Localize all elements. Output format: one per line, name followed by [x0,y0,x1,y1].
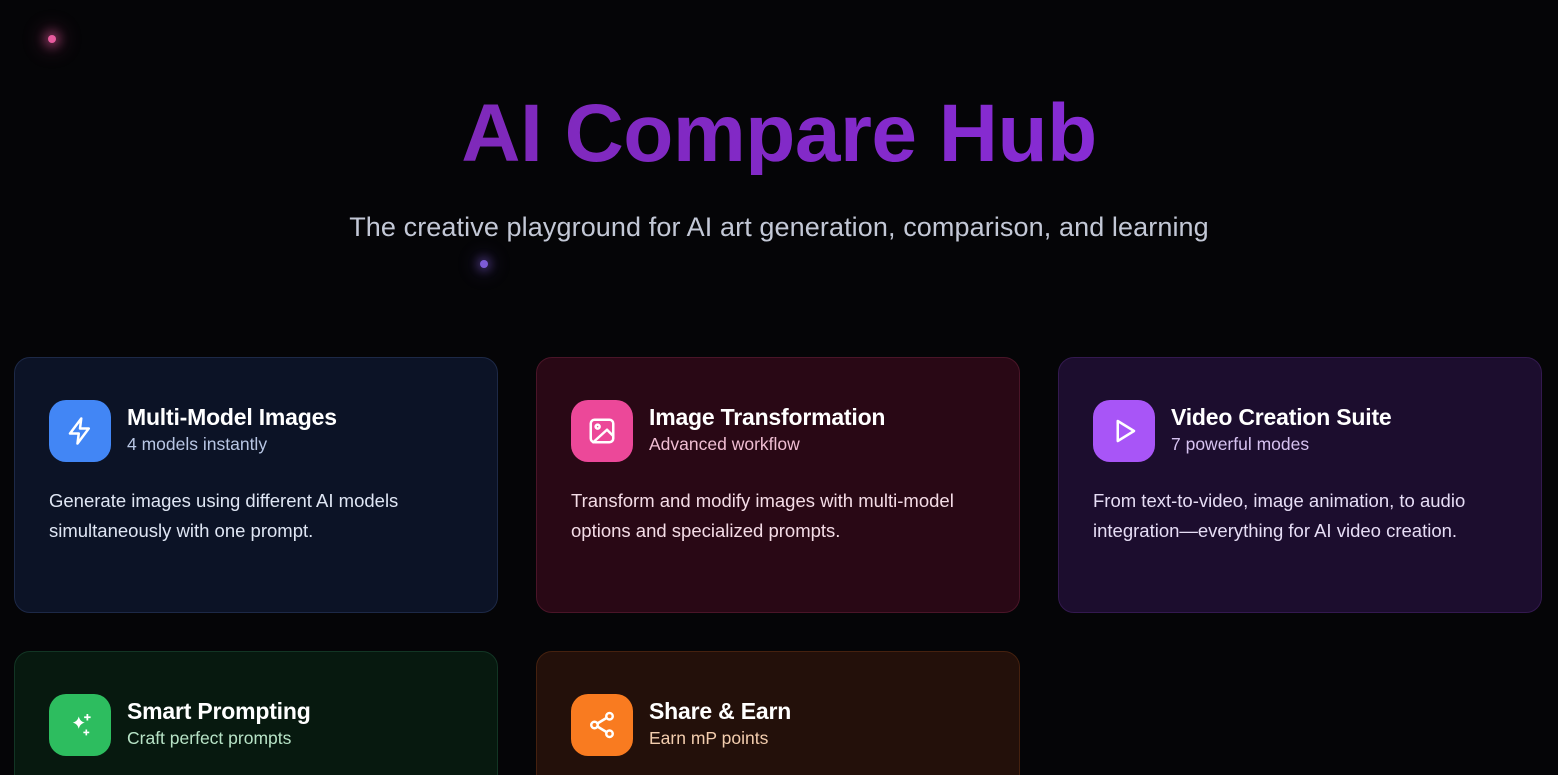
card-header-text: Share & Earn Earn mP points [649,699,791,751]
hero-section: AI Compare Hub The creative playground f… [0,0,1558,243]
card-subtitle: 7 powerful modes [1171,434,1392,455]
decorative-dot-purple [480,260,488,268]
feature-card-video-creation-suite[interactable]: Video Creation Suite 7 powerful modes Fr… [1058,357,1542,613]
feature-card-share-and-earn[interactable]: Share & Earn Earn mP points [536,651,1020,775]
card-description: Transform and modify images with multi-m… [571,486,985,546]
card-title: Smart Prompting [127,699,311,725]
feature-card-multi-model-images[interactable]: Multi-Model Images 4 models instantly Ge… [14,357,498,613]
card-header: Share & Earn Earn mP points [571,694,985,756]
card-title: Multi-Model Images [127,405,337,431]
share-network-icon [571,694,633,756]
page-subtitle: The creative playground for AI art gener… [0,212,1558,243]
card-header-text: Smart Prompting Craft perfect prompts [127,699,311,751]
card-subtitle: Craft perfect prompts [127,728,311,749]
card-title: Image Transformation [649,405,885,431]
card-subtitle: 4 models instantly [127,434,337,455]
card-header: Multi-Model Images 4 models instantly [49,400,463,462]
page-title: AI Compare Hub [0,93,1558,175]
card-title: Share & Earn [649,699,791,725]
card-header: Video Creation Suite 7 powerful modes [1093,400,1507,462]
card-header-text: Multi-Model Images 4 models instantly [127,405,337,457]
page-root: AI Compare Hub The creative playground f… [0,0,1558,775]
card-header: Smart Prompting Craft perfect prompts [49,694,463,756]
card-subtitle: Earn mP points [649,728,791,749]
lightning-bolt-icon [49,400,111,462]
image-icon [571,400,633,462]
card-header-text: Video Creation Suite 7 powerful modes [1171,405,1392,457]
play-triangle-icon [1093,400,1155,462]
feature-card-grid: Multi-Model Images 4 models instantly Ge… [14,357,1544,775]
card-subtitle: Advanced workflow [649,434,885,455]
feature-card-smart-prompting[interactable]: Smart Prompting Craft perfect prompts [14,651,498,775]
card-title: Video Creation Suite [1171,405,1392,431]
feature-card-image-transformation[interactable]: Image Transformation Advanced workflow T… [536,357,1020,613]
sparkles-icon [49,694,111,756]
card-description: Generate images using different AI model… [49,486,463,546]
card-header-text: Image Transformation Advanced workflow [649,405,885,457]
card-description: From text-to-video, image animation, to … [1093,486,1507,546]
card-header: Image Transformation Advanced workflow [571,400,985,462]
decorative-dot-pink [48,35,56,43]
